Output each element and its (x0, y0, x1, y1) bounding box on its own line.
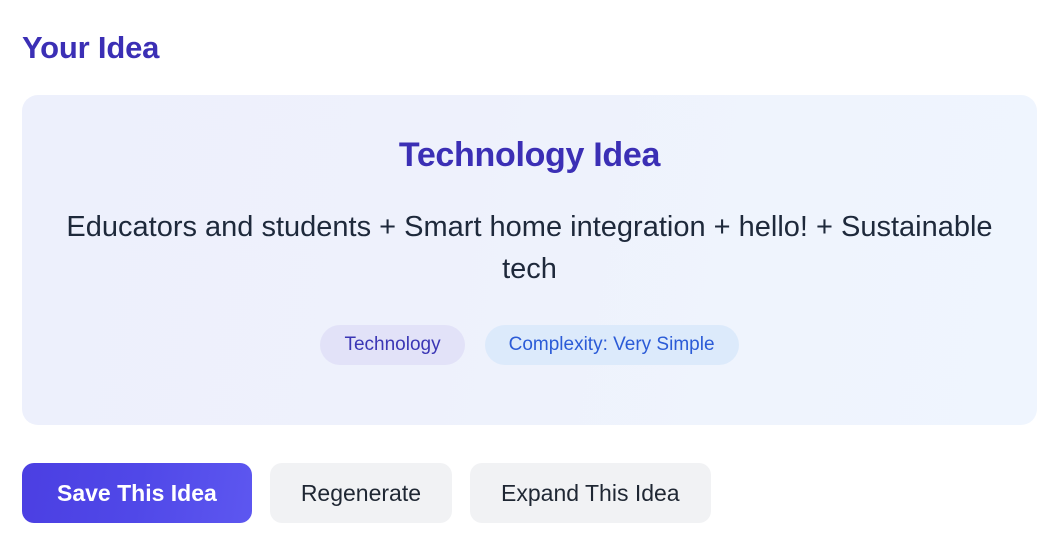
regenerate-button[interactable]: Regenerate (270, 463, 452, 523)
expand-this-idea-button[interactable]: Expand This Idea (470, 463, 711, 523)
idea-card: Technology Idea Educators and students +… (22, 95, 1037, 425)
idea-card-description: Educators and students + Smart home inte… (65, 206, 995, 290)
action-button-row: Save This Idea Regenerate Expand This Id… (22, 463, 711, 523)
idea-result-page: Your Idea Technology Idea Educators and … (0, 0, 1059, 559)
badge-category: Technology (320, 325, 464, 365)
idea-card-title: Technology Idea (399, 133, 660, 177)
idea-badge-row: Technology Complexity: Very Simple (320, 325, 738, 365)
badge-complexity: Complexity: Very Simple (485, 325, 739, 365)
page-title: Your Idea (22, 28, 159, 68)
save-this-idea-button[interactable]: Save This Idea (22, 463, 252, 523)
